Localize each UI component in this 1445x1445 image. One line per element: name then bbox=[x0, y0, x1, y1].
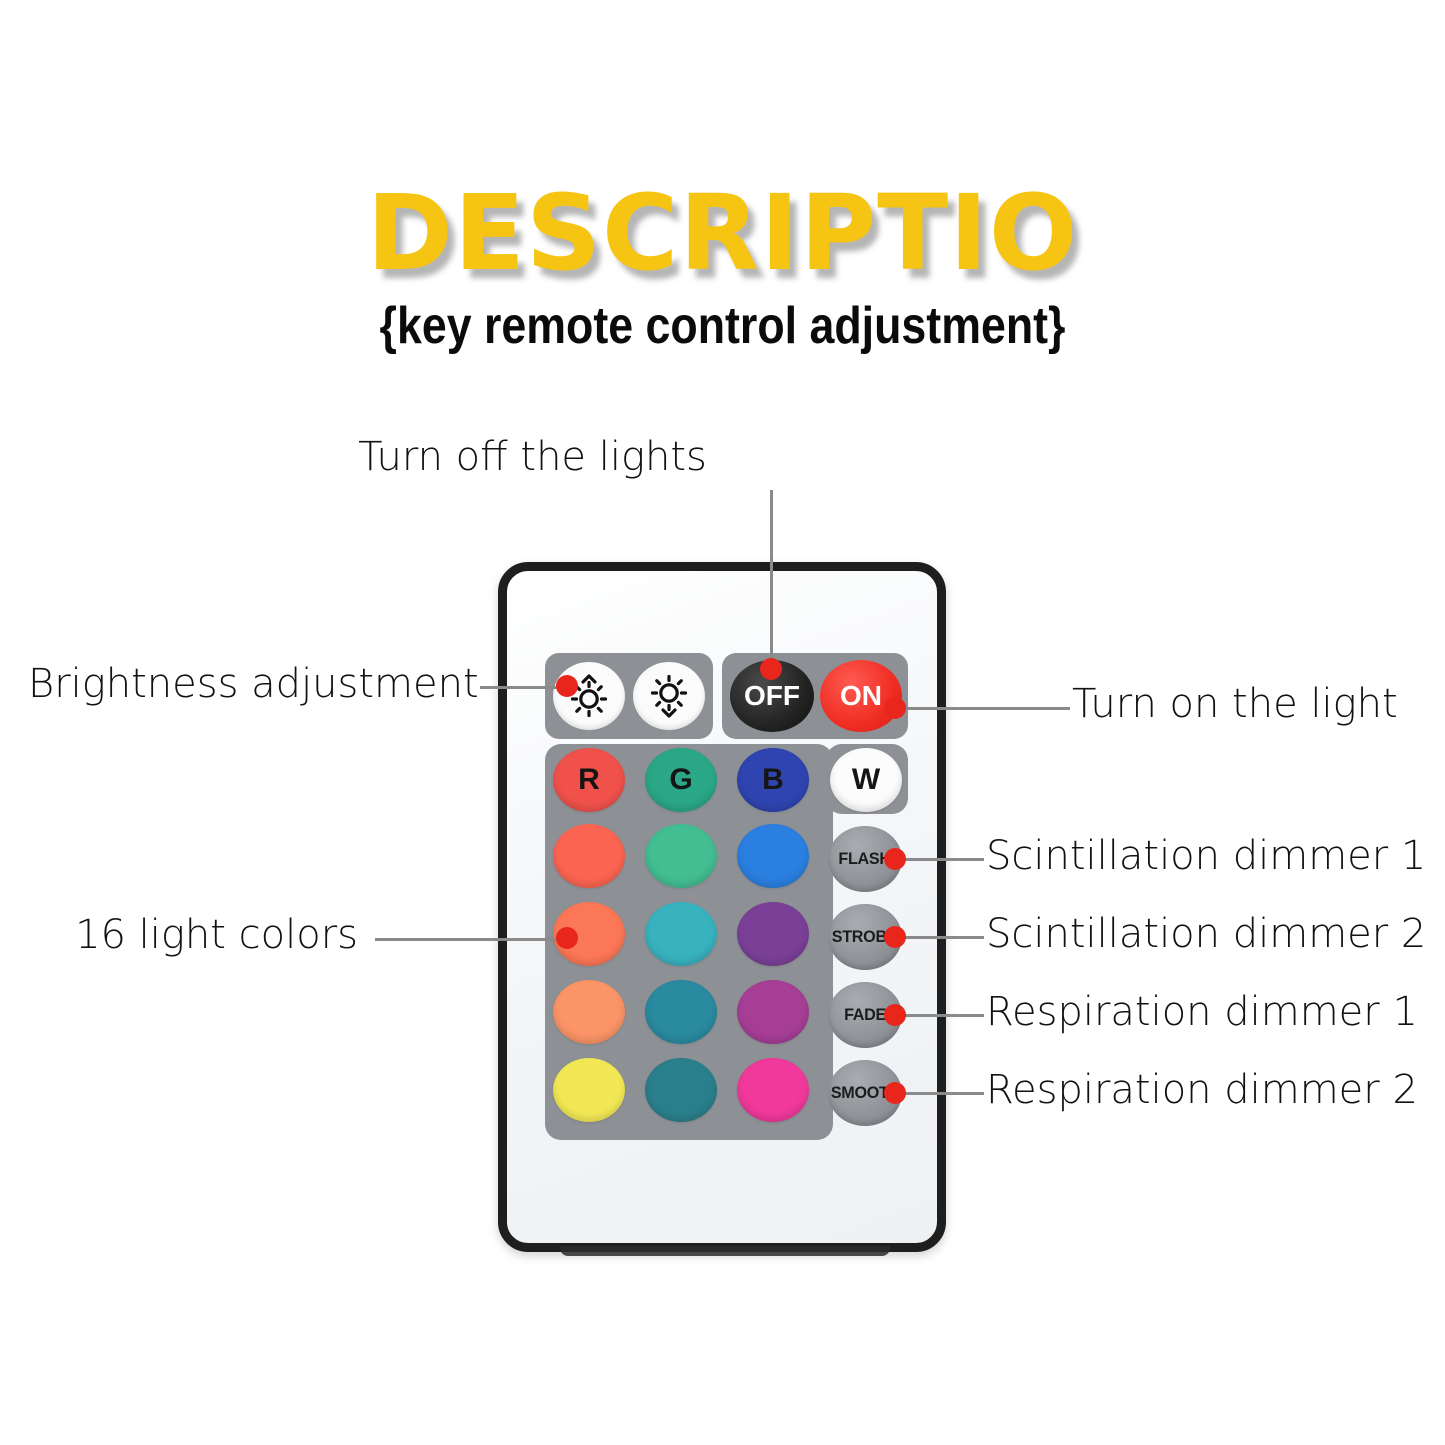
leader-line-16-colors bbox=[375, 938, 575, 941]
fade-button-label: FADE bbox=[844, 1005, 886, 1025]
on-button[interactable]: ON bbox=[820, 660, 902, 732]
callout-respiration-dimmer-2: Respiration dimmer 2 bbox=[986, 1070, 1418, 1110]
leader-line-turn-off bbox=[770, 490, 773, 666]
marker-dot-off-button bbox=[760, 658, 782, 680]
leader-line-fade bbox=[898, 1014, 984, 1017]
color-swatch[interactable] bbox=[737, 902, 809, 966]
color-button-white[interactable]: W bbox=[830, 748, 902, 812]
marker-dot-fade-button bbox=[884, 1004, 906, 1026]
color-button-blue-label: B bbox=[762, 763, 784, 797]
callout-16-light-colors: 16 light colors bbox=[28, 915, 358, 955]
sun-down-icon bbox=[646, 673, 692, 719]
leader-line-smooth bbox=[898, 1092, 984, 1095]
color-button-red-label: R bbox=[578, 763, 600, 797]
color-swatch[interactable] bbox=[737, 824, 809, 888]
callout-scintillation-dimmer-1: Scintillation dimmer 1 bbox=[986, 836, 1426, 876]
color-swatch[interactable] bbox=[645, 1058, 717, 1122]
off-button-label: OFF bbox=[744, 680, 800, 712]
color-button-blue[interactable]: B bbox=[737, 748, 809, 812]
callout-scintillation-dimmer-2: Scintillation dimmer 2 bbox=[986, 914, 1426, 954]
page-title: DESCRIPTIO bbox=[0, 181, 1445, 285]
leader-line-turn-on bbox=[898, 707, 1070, 710]
marker-dot-strobe-button bbox=[884, 926, 906, 948]
color-button-green[interactable]: G bbox=[645, 748, 717, 812]
brightness-down-button[interactable] bbox=[633, 662, 705, 730]
marker-dot-brightness-button bbox=[556, 675, 578, 697]
color-swatch[interactable] bbox=[553, 980, 625, 1044]
marker-dot-on-button bbox=[884, 697, 906, 719]
color-button-white-label: W bbox=[852, 763, 880, 797]
callout-brightness-adjustment: Brightness adjustment bbox=[28, 664, 478, 704]
on-button-label: ON bbox=[840, 680, 882, 712]
callout-respiration-dimmer-1: Respiration dimmer 1 bbox=[986, 992, 1418, 1032]
marker-dot-flash-button bbox=[884, 848, 906, 870]
color-swatch[interactable] bbox=[737, 980, 809, 1044]
color-swatch[interactable] bbox=[553, 824, 625, 888]
marker-dot-smooth-button bbox=[884, 1082, 906, 1104]
callout-turn-off-the-lights: Turn off the lights bbox=[0, 437, 1255, 477]
color-swatch[interactable] bbox=[553, 1058, 625, 1122]
color-button-red[interactable]: R bbox=[553, 748, 625, 812]
page-subtitle: {key remote control adjustment} bbox=[101, 296, 1344, 356]
color-swatch[interactable] bbox=[737, 1058, 809, 1122]
color-swatch[interactable] bbox=[645, 824, 717, 888]
color-swatch[interactable] bbox=[645, 980, 717, 1044]
leader-line-strobe bbox=[898, 936, 984, 939]
callout-turn-on-the-light: Turn on the light bbox=[1072, 684, 1398, 724]
marker-dot-color-swatch bbox=[556, 927, 578, 949]
remote-bottom-lip bbox=[560, 1246, 890, 1256]
leader-line-flash bbox=[898, 858, 984, 861]
color-button-green-label: G bbox=[669, 763, 692, 797]
color-swatch[interactable] bbox=[645, 902, 717, 966]
